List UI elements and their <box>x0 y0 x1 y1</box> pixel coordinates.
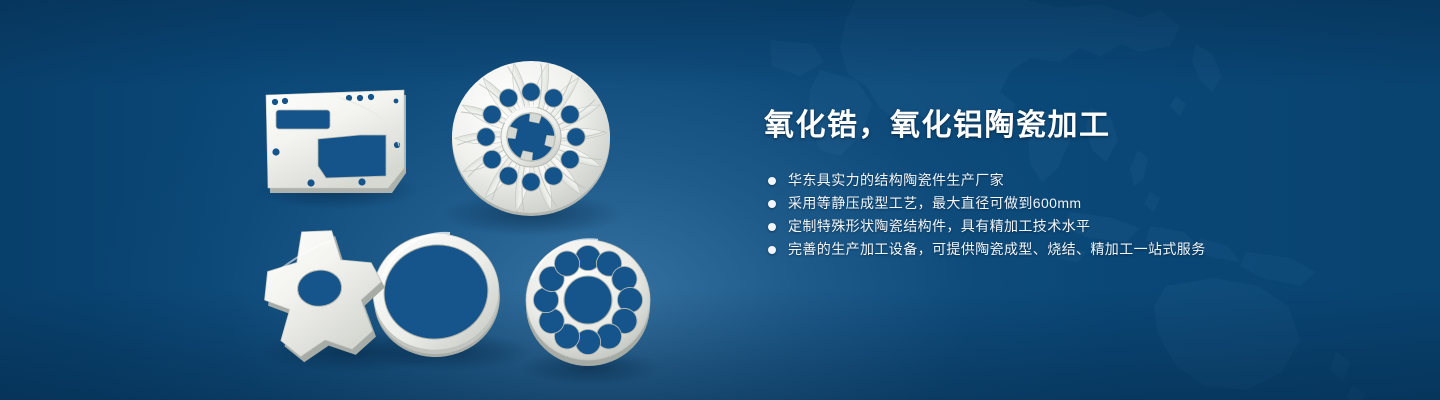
feature-bullet-text: 华东具实力的结构陶瓷件生产厂家 <box>788 169 1004 192</box>
bullet-dot-icon <box>768 246 776 254</box>
promotional-banner: 氧化锆，氧化铝陶瓷加工 华东具实力的结构陶瓷件生产厂家 采用等静压成型工艺，最大… <box>0 0 1440 400</box>
feature-bullet-text: 定制特殊形状陶瓷结构件，具有精加工技术水平 <box>788 215 1090 238</box>
feature-bullet-text: 完善的生产加工设备，可提供陶瓷成型、烧结、精加工一站式服务 <box>788 238 1206 261</box>
ceramic-mounting-plate <box>266 90 406 193</box>
banner-headline: 氧化锆，氧化铝陶瓷加工 <box>764 106 1384 145</box>
feature-bullet-text: 采用等静压成型工艺，最大直径可做到600mm <box>788 192 1081 215</box>
bullet-dot-icon <box>768 200 776 208</box>
bullet-dot-icon <box>768 223 776 231</box>
feature-bullet-item: 采用等静压成型工艺，最大直径可做到600mm <box>768 192 1384 215</box>
feature-bullet-item: 定制特殊形状陶瓷结构件，具有精加工技术水平 <box>768 215 1384 238</box>
feature-bullet-list: 华东具实力的结构陶瓷件生产厂家 采用等静压成型工艺，最大直径可做到600mm 定… <box>768 169 1384 261</box>
ceramic-perforated-disc <box>526 239 650 366</box>
product-photo-cluster <box>0 0 720 400</box>
feature-bullet-item: 华东具实力的结构陶瓷件生产厂家 <box>768 169 1384 192</box>
feature-bullet-item: 完善的生产加工设备，可提供陶瓷成型、烧结、精加工一站式服务 <box>768 238 1384 261</box>
ceramic-impeller-disc <box>452 61 610 216</box>
bullet-dot-icon <box>768 177 776 185</box>
banner-copy: 氧化锆，氧化铝陶瓷加工 华东具实力的结构陶瓷件生产厂家 采用等静压成型工艺，最大… <box>764 106 1384 261</box>
